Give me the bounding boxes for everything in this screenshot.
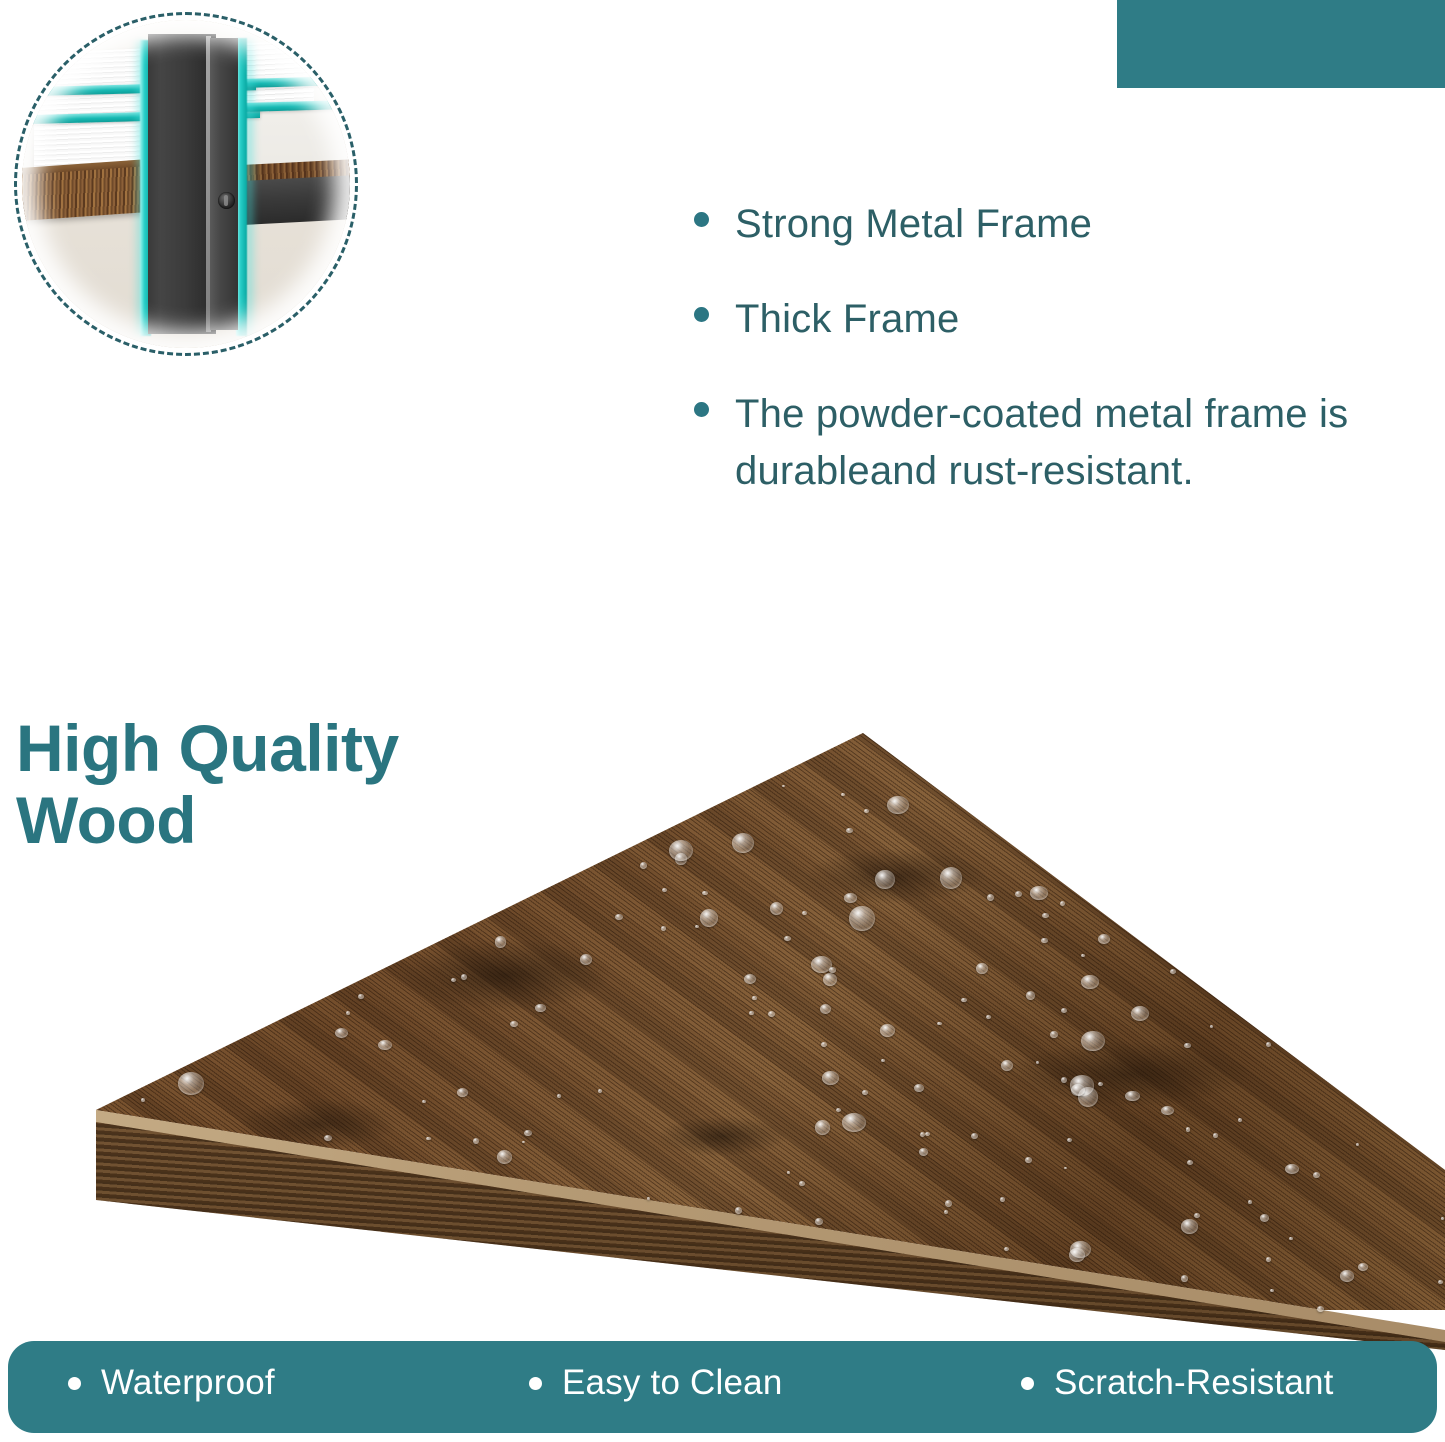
feature-item: The powder-coated metal frame is durable… xyxy=(694,386,1434,500)
water-droplet xyxy=(732,833,754,853)
water-droplet xyxy=(849,906,875,932)
bullet-dot-icon xyxy=(694,307,709,322)
water-droplet xyxy=(1125,1091,1139,1101)
water-droplet xyxy=(1069,1248,1085,1262)
water-droplet xyxy=(862,1090,868,1095)
water-droplet xyxy=(987,894,994,901)
water-droplet xyxy=(1098,1082,1103,1086)
water-droplet xyxy=(1067,1138,1072,1142)
bottom-bar-item: Easy to Clean xyxy=(529,1363,783,1403)
wood-board-image xyxy=(0,690,1445,1350)
water-droplet xyxy=(1061,1077,1067,1083)
water-droplet xyxy=(986,1015,991,1019)
water-droplet xyxy=(937,1022,942,1025)
water-droplet xyxy=(702,891,708,895)
water-droplet xyxy=(844,893,857,902)
water-droplet xyxy=(971,1133,978,1139)
water-droplet xyxy=(535,1004,545,1012)
water-droplet xyxy=(1441,1217,1444,1220)
water-droplet xyxy=(914,1084,924,1092)
water-droplet xyxy=(1260,1214,1270,1222)
water-droplet xyxy=(1030,886,1048,899)
feature-label: Thick Frame xyxy=(735,291,959,348)
water-droplet xyxy=(426,1137,430,1140)
water-droplet xyxy=(881,1059,885,1062)
water-droplet xyxy=(880,1024,895,1037)
bottom-bar-item: Scratch-Resistant xyxy=(1021,1363,1334,1403)
water-droplet xyxy=(1161,1106,1174,1115)
water-droplet xyxy=(497,1150,513,1164)
water-droplet xyxy=(875,870,894,889)
wood-board xyxy=(0,690,1445,1350)
water-droplet xyxy=(940,867,962,889)
bullet-dot-icon xyxy=(1021,1377,1034,1390)
water-droplet xyxy=(695,925,699,928)
water-droplet xyxy=(473,1138,479,1144)
water-droplet xyxy=(961,998,966,1003)
water-droplet xyxy=(1098,934,1109,944)
water-droplet xyxy=(1248,1200,1252,1204)
water-droplet xyxy=(661,926,666,930)
bottom-bar-label: Easy to Clean xyxy=(562,1363,783,1403)
water-droplet xyxy=(1081,1031,1105,1052)
water-droplet xyxy=(829,967,835,973)
feature-item: Thick Frame xyxy=(694,291,1434,348)
water-droplet xyxy=(770,902,783,915)
water-droplet xyxy=(1194,1213,1200,1218)
water-droplet xyxy=(749,1011,754,1015)
product-infographic-poster: Strong Metal Frame Thick Frame The powde… xyxy=(0,0,1445,1442)
water-droplet xyxy=(815,1120,830,1135)
water-droplet xyxy=(640,862,647,869)
water-droplet xyxy=(324,1135,332,1141)
water-droplet xyxy=(1036,1061,1039,1064)
water-droplet xyxy=(842,1113,867,1132)
water-droplet xyxy=(1266,1257,1271,1262)
bullet-dot-icon xyxy=(694,402,709,417)
water-droplet xyxy=(1004,1247,1009,1251)
bottom-bar-label: Scratch-Resistant xyxy=(1054,1363,1334,1403)
water-droplet xyxy=(1340,1270,1354,1282)
water-droplet xyxy=(744,974,756,984)
water-droplet xyxy=(1026,991,1035,1000)
water-droplet xyxy=(495,936,507,947)
detail-circle xyxy=(14,12,358,356)
teal-corner-block xyxy=(1117,0,1445,88)
water-droplet xyxy=(887,796,909,814)
water-droplet xyxy=(1438,1280,1443,1284)
water-droplet xyxy=(821,1042,827,1047)
bullet-dot-icon xyxy=(68,1377,81,1390)
feature-label: The powder-coated metal frame is durable… xyxy=(735,386,1434,500)
water-droplet xyxy=(1181,1219,1198,1234)
water-droplet xyxy=(1181,1275,1188,1281)
water-droplet xyxy=(615,914,623,920)
water-droplet xyxy=(1050,1031,1057,1038)
water-droplet xyxy=(836,1108,841,1112)
water-droplet xyxy=(1210,1025,1213,1028)
water-droplet xyxy=(378,1040,392,1050)
water-droplet xyxy=(461,974,467,980)
water-droplet xyxy=(1041,938,1047,944)
water-droplet xyxy=(647,1197,650,1200)
water-droplet xyxy=(1001,1060,1013,1071)
water-droplet xyxy=(510,1021,517,1027)
water-droplet xyxy=(346,1011,350,1015)
bottom-bar-label: Waterproof xyxy=(101,1363,275,1403)
water-droplet xyxy=(799,1181,805,1186)
water-droplet xyxy=(735,1207,742,1214)
water-droplet xyxy=(864,809,869,813)
water-droplet xyxy=(662,888,667,892)
dashed-circle-border xyxy=(14,12,358,356)
water-droplet xyxy=(1184,1043,1191,1048)
bullet-dot-icon xyxy=(529,1377,542,1390)
feature-list: Strong Metal Frame Thick Frame The powde… xyxy=(694,196,1434,500)
water-droplet xyxy=(822,1071,839,1085)
bottom-bar-item: Waterproof xyxy=(68,1363,275,1403)
water-droplet xyxy=(141,1098,145,1102)
bottom-feature-bar: Waterproof Easy to Clean Scratch-Resista… xyxy=(8,1341,1437,1433)
water-droplet xyxy=(557,1094,561,1098)
water-droplet xyxy=(802,911,807,915)
water-droplet xyxy=(1025,1157,1031,1163)
water-droplet xyxy=(178,1072,204,1095)
bullet-dot-icon xyxy=(694,212,709,227)
water-droplet xyxy=(1187,1160,1193,1165)
feature-item: Strong Metal Frame xyxy=(694,196,1434,253)
water-droplet xyxy=(815,1218,823,1225)
feature-label: Strong Metal Frame xyxy=(735,196,1092,253)
